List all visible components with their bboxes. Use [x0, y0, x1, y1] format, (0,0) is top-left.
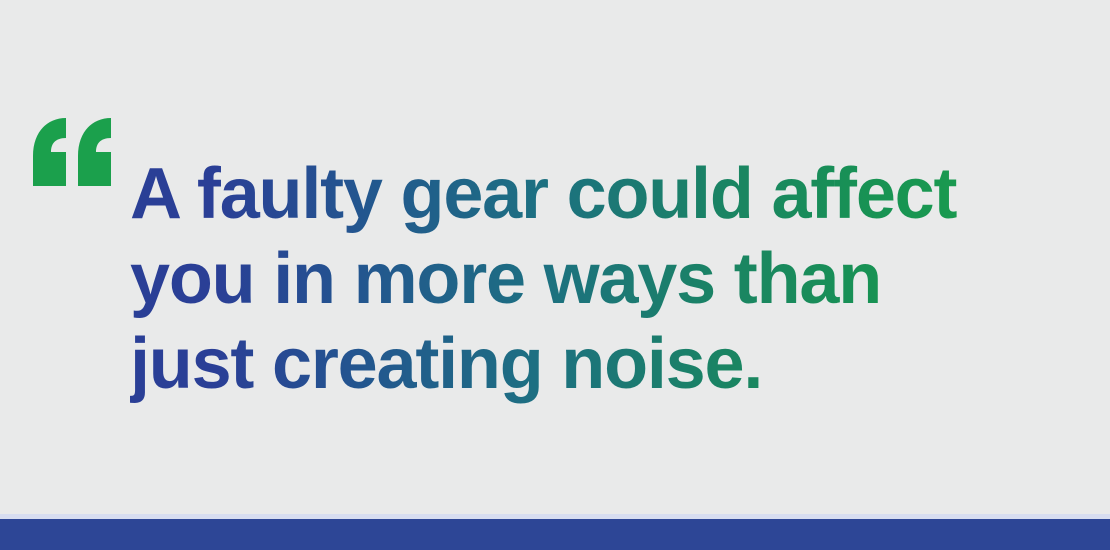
quotation-mark-icon	[31, 116, 113, 188]
quote-line-1: A faulty gear could affect	[130, 152, 1100, 237]
quote-card: A faulty gear could affect you in more w…	[0, 0, 1110, 550]
quote-text-block: A faulty gear could affect you in more w…	[130, 152, 1100, 407]
quote-line-3: just creating noise.	[130, 322, 1100, 407]
footer-bar	[0, 519, 1110, 550]
quote-line-2: you in more ways than	[130, 237, 1100, 322]
